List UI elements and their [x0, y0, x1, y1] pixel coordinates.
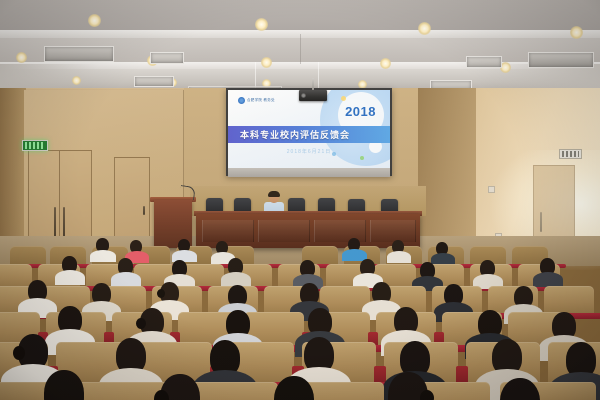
- presenter-hair: [268, 191, 280, 197]
- slide-title-band: 本科专业校内评估反馈会: [228, 126, 390, 143]
- ceiling: [0, 0, 600, 96]
- slide-logo-text: 合肥学院 教务处: [247, 98, 275, 102]
- downlight: [570, 26, 583, 39]
- ceiling-projector: [299, 90, 327, 101]
- wall-outlet: [488, 186, 495, 193]
- projection-screen: 合肥学院 教务处 2018 本科专业校内评估反馈会 2018年6月21日: [228, 90, 390, 170]
- air-vent: [528, 52, 594, 68]
- downlight: [261, 57, 272, 68]
- air-vent: [134, 76, 174, 87]
- slide-dot: [360, 156, 364, 160]
- projector-lens: [301, 93, 306, 98]
- downlight: [380, 58, 391, 69]
- downlight: [418, 22, 431, 35]
- audience-area: [0, 238, 600, 400]
- projection-screen-valance: [228, 168, 390, 177]
- air-vent: [466, 56, 502, 68]
- slide-date-text: 2018年6月21日: [228, 148, 390, 155]
- exit-sign-left: [22, 140, 48, 151]
- ceiling-seam-center: [300, 34, 301, 64]
- slide-title-text: 本科专业校内评估反馈会: [228, 128, 350, 141]
- wall-sign-right: [559, 149, 582, 159]
- air-vent: [150, 52, 184, 64]
- auditorium-photo: 合肥学院 教务处 2018 本科专业校内评估反馈会 2018年6月21日: [0, 0, 600, 400]
- downlight: [255, 18, 268, 31]
- downlight: [16, 52, 27, 63]
- slide-logo-mark: [238, 97, 245, 104]
- slide-dot: [341, 96, 346, 101]
- air-vent: [44, 46, 114, 62]
- downlight: [72, 76, 81, 85]
- slide-year-graphic: 2018: [345, 104, 376, 119]
- slide-logo: 合肥学院 教务处: [238, 97, 275, 104]
- downlight: [88, 14, 101, 27]
